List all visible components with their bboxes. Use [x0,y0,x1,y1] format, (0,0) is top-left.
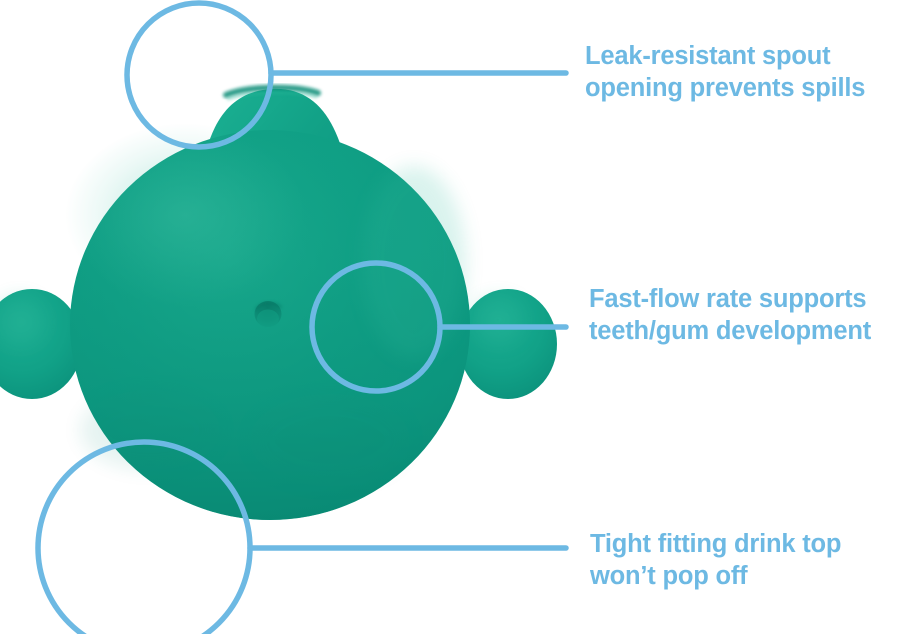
callout-line: teeth/gum development [589,315,871,347]
product-feature-callout-image: Leak-resistant spout opening prevents sp… [0,0,910,634]
product-photo [0,0,580,634]
right-side-tab [459,289,557,399]
left-side-tab [0,289,82,399]
callout-text-leak-resistant-spout: Leak-resistant spout opening prevents sp… [585,40,865,104]
callout-line: Leak-resistant spout [585,40,865,72]
callout-line: won’t pop off [590,560,841,592]
callout-line: opening prevents spills [585,72,865,104]
callout-text-tight-fitting-drink-top: Tight fitting drink top won’t pop off [590,528,841,592]
callout-line: Tight fitting drink top [590,528,841,560]
callout-line: Fast-flow rate supports [589,283,871,315]
callout-text-fast-flow-rate: Fast-flow rate supports teeth/gum develo… [589,283,871,347]
